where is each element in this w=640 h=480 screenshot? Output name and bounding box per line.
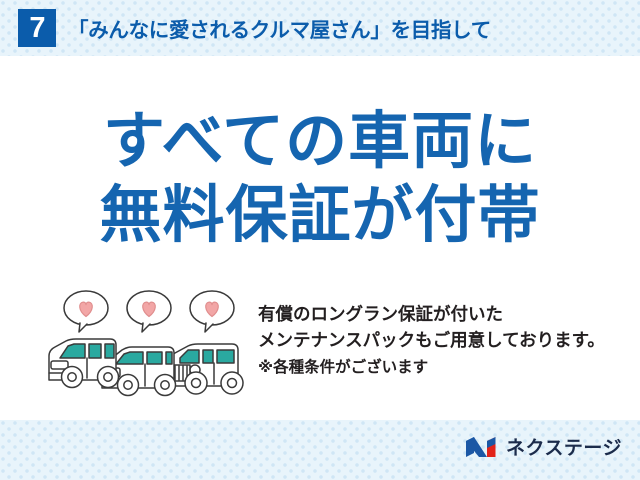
heart-bubble-3 (190, 291, 234, 332)
body-copy-line-1: 有償のロングラン保証が付いた (258, 302, 638, 328)
section-number-badge: 7 (18, 9, 56, 47)
content-panel: すべての車両に 無料保証が付帯 (0, 56, 640, 420)
promo-banner: 7 「みんなに愛されるクルマ屋さん」を目指して すべての車両に 無料保証が付帯 (0, 0, 640, 480)
body-copy-note: ※各種条件がございます (258, 354, 638, 380)
three-cars-with-hearts-illustration (44, 288, 254, 400)
headline: すべての車両に 無料保証が付帯 (0, 104, 640, 252)
brand-logo-text: ネクステージ (506, 433, 622, 460)
headline-line-2: 無料保証が付帯 (0, 178, 640, 252)
nexstage-n-mark-icon (465, 436, 499, 458)
brand-logo: ネクステージ (465, 433, 622, 460)
banner-footer: ネクステージ (0, 420, 640, 480)
lower-row: 有償のロングラン保証が付いた メンテナンスパックもご用意しております。 ※各種条… (0, 288, 640, 420)
heart-bubble-2 (127, 291, 171, 332)
car-minivan (49, 339, 119, 388)
heart-bubble-1 (64, 291, 108, 332)
header-title: 「みんなに愛されるクルマ屋さん」を目指して (68, 13, 491, 43)
car-suv-jeep (169, 344, 243, 394)
banner-header: 7 「みんなに愛されるクルマ屋さん」を目指して (0, 0, 640, 56)
headline-line-1: すべての車両に (0, 104, 640, 178)
body-copy: 有償のロングラン保証が付いた メンテナンスパックもご用意しております。 ※各種条… (258, 302, 638, 380)
body-copy-line-2: メンテナンスパックもご用意しております。 (258, 328, 638, 354)
